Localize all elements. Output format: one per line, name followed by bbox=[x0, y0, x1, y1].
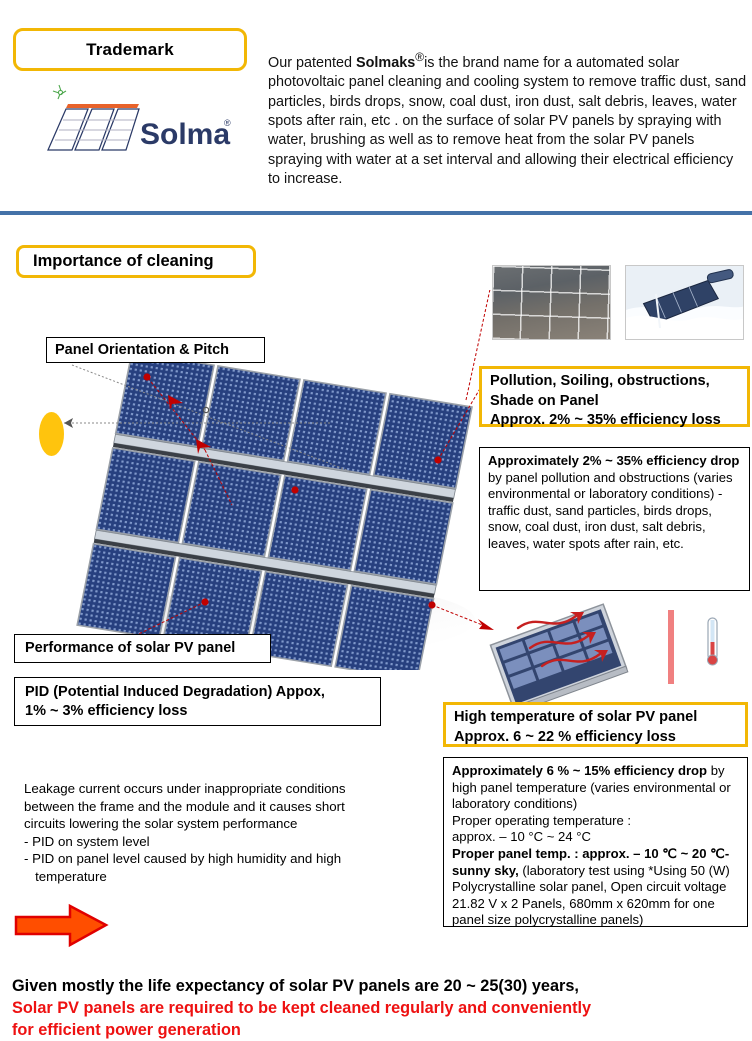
intro-brand: Solmaks bbox=[356, 55, 415, 71]
right-arrow-graphic bbox=[14, 903, 109, 948]
summary-line-1: Given mostly the life expectancy of sola… bbox=[12, 975, 742, 997]
solmaks-logo-graphic: Solmaks ® bbox=[42, 82, 232, 154]
summary-line-3: for efficient power generation bbox=[12, 1019, 742, 1041]
leakage-line-2: between the frame and the module and it … bbox=[24, 798, 414, 816]
pollution-detail-rest: by panel pollution and obstructions (var… bbox=[488, 470, 733, 551]
panel-orientation-label: Panel Orientation & Pitch bbox=[55, 341, 229, 360]
intro-paragraph: Our patented Solmaks®is the brand name f… bbox=[268, 48, 748, 190]
importance-label: Importance of cleaning bbox=[33, 252, 214, 271]
intro-prefix: Our patented bbox=[268, 55, 356, 71]
intro-body: is the brand name for a automated solar … bbox=[268, 55, 746, 187]
sun-icon bbox=[39, 412, 64, 456]
snow-covered-panel-photo bbox=[625, 265, 744, 340]
temperature-detail-box: Approximately 6 % ~ 15% efficiency drop … bbox=[443, 757, 748, 927]
importance-title-box: Importance of cleaning bbox=[16, 245, 256, 278]
high-temperature-callout-box: High temperature of solar PV panel Appro… bbox=[443, 702, 748, 747]
trademark-title-box: Trademark bbox=[13, 28, 247, 71]
snow-panel-graphic bbox=[626, 266, 744, 340]
hightemp-line-1: High temperature of solar PV panel bbox=[454, 708, 745, 728]
heat-scale-bar bbox=[668, 610, 674, 684]
temp-detail-bold-2b: sunny sky, bbox=[452, 863, 519, 878]
temp-operating-line-2: approx. – 10 °C ~ 24 °C bbox=[452, 829, 741, 846]
pollution-line-3: Approx. 2% ~ 35% efficiency loss bbox=[490, 411, 747, 431]
leakage-line-5: - PID on panel level caused by high humi… bbox=[24, 850, 414, 868]
temp-detail-bold-1: Approximately 6 % ~ 15% efficiency drop bbox=[452, 763, 707, 778]
intro-registered-mark: ® bbox=[415, 50, 424, 64]
pollution-detail-bold: Approximately 2% ~ 35% efficiency drop bbox=[488, 453, 739, 468]
logo-registered-mark: ® bbox=[224, 118, 231, 128]
summary-line-2: Solar PV panels are required to be kept … bbox=[12, 997, 742, 1019]
leakage-line-1: Leakage current occurs under inappropria… bbox=[24, 780, 414, 798]
pollution-line-2: Shade on Panel bbox=[490, 392, 747, 412]
hightemp-line-2: Approx. 6 ~ 22 % efficiency loss bbox=[454, 728, 745, 748]
pollution-callout-box: Pollution, Soiling, obstructions, Shade … bbox=[479, 366, 750, 427]
temp-detail-bold-2: Proper panel temp. : approx. – 10 ℃ ~ 20… bbox=[452, 846, 729, 861]
leakage-line-3: circuits lowering the solar system perfo… bbox=[24, 815, 414, 833]
performance-box: Performance of solar PV panel bbox=[14, 634, 271, 663]
section-divider bbox=[0, 211, 752, 215]
dirty-panel-photo bbox=[492, 265, 611, 340]
panel-orientation-box: Panel Orientation & Pitch bbox=[46, 337, 265, 363]
pollution-detail-box: Approximately 2% ~ 35% efficiency drop b… bbox=[479, 447, 750, 591]
heat-panel-graphic bbox=[480, 600, 752, 705]
thermometer-icon bbox=[708, 618, 718, 665]
solmaks-logo: Solmaks ® bbox=[42, 82, 232, 154]
pid-line-2: 1% ~ 3% efficiency loss bbox=[25, 702, 380, 721]
pid-box: PID (Potential Induced Degradation) Appo… bbox=[14, 677, 381, 726]
performance-label: Performance of solar PV panel bbox=[25, 639, 235, 658]
leakage-description: Leakage current occurs under inappropria… bbox=[24, 780, 414, 886]
leakage-line-6: temperature bbox=[24, 868, 414, 886]
right-arrow-icon bbox=[14, 903, 109, 948]
pid-line-1: PID (Potential Induced Degradation) Appo… bbox=[25, 683, 380, 702]
temp-operating-line-1: Proper operating temperature : bbox=[452, 813, 741, 830]
logo-orange-bar bbox=[66, 104, 139, 108]
logo-wordmark: Solmaks bbox=[140, 118, 232, 151]
pollution-line-1: Pollution, Soiling, obstructions, bbox=[490, 372, 747, 392]
summary-text: Given mostly the life expectancy of sola… bbox=[12, 975, 742, 1041]
trademark-label: Trademark bbox=[86, 40, 174, 60]
leakage-line-4: - PID on system level bbox=[24, 833, 414, 851]
high-temperature-illustration bbox=[480, 600, 752, 705]
sparkle-icon bbox=[53, 85, 66, 99]
